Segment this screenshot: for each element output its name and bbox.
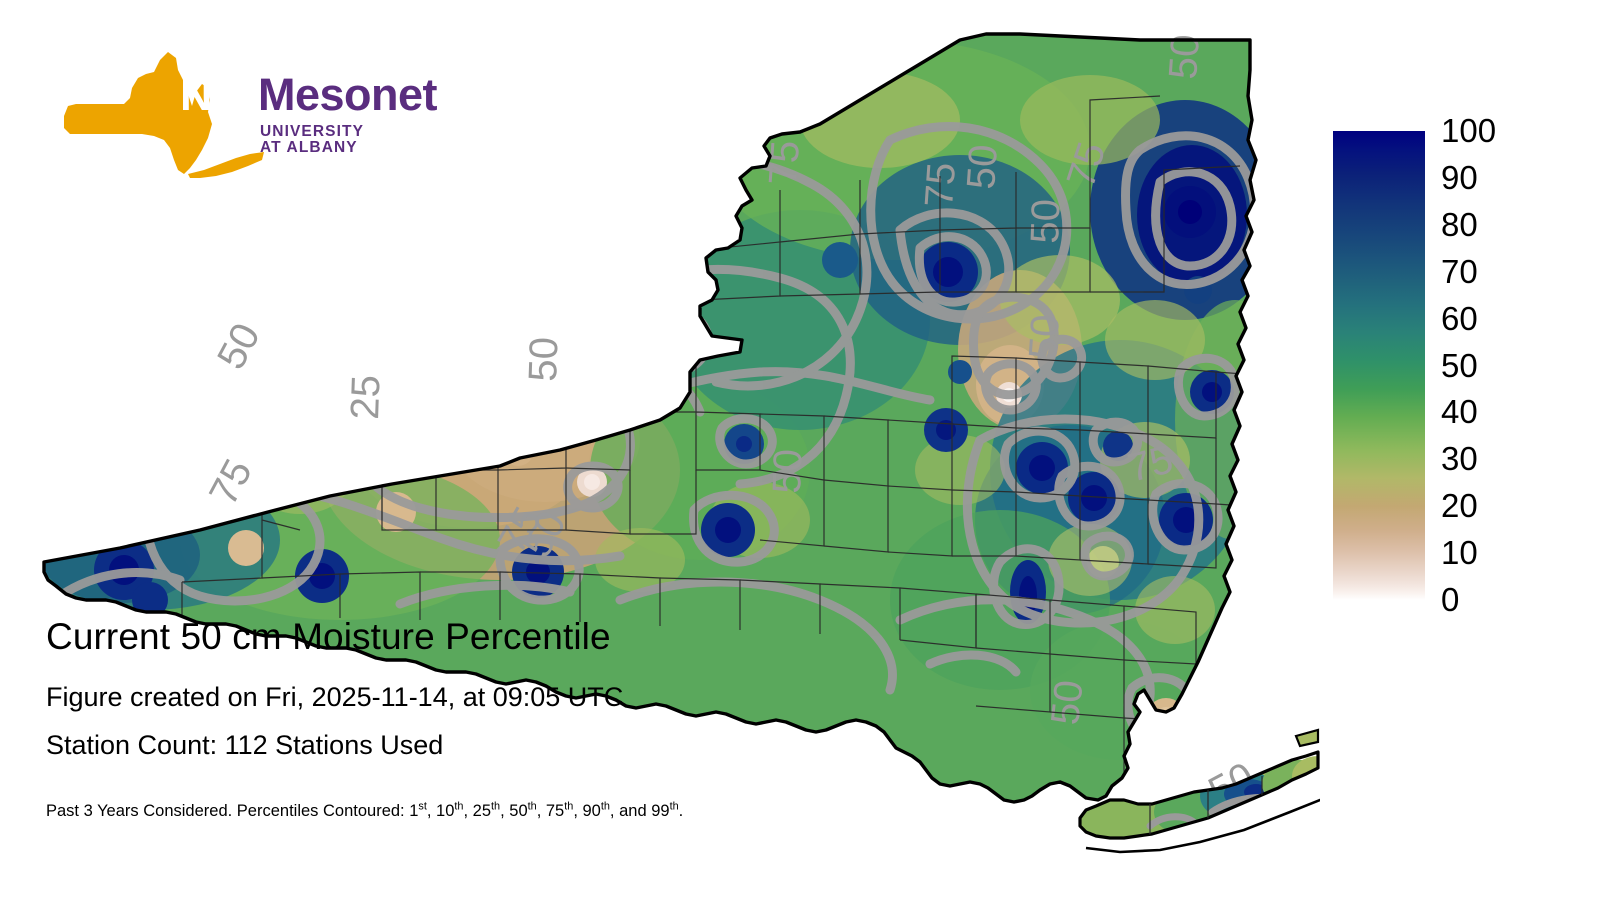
logo-divider-bar [251, 70, 255, 120]
station-count-label: Station Count: 112 Stations Used [46, 731, 1046, 759]
percentile-level-50: 50th [509, 802, 536, 820]
colorbar-tick-50: 50 [1441, 349, 1533, 382]
colorbar-tick-80: 80 [1441, 208, 1533, 241]
percentile-level-1: 1st [409, 802, 427, 820]
logo-university-subtitle: UNIVERSITY AT ALBANY [260, 124, 364, 155]
nys-mesonet-logo: NYS Mesonet UNIVERSITY AT ALBANY [58, 48, 408, 178]
contour-footnote: Past 3 Years Considered. Percentiles Con… [46, 802, 1046, 820]
colorbar-tick-70: 70 [1441, 255, 1533, 288]
creation-timestamp: Figure created on Fri, 2025-11-14, at 09… [46, 683, 1046, 711]
percentile-level-90: 90th [582, 802, 609, 820]
colorbar-tick-100: 100 [1441, 114, 1533, 147]
logo-mesonet-text: Mesonet [258, 72, 437, 117]
colorbar-tick-20: 20 [1441, 489, 1533, 522]
page-title: Current 50 cm Moisture Percentile [46, 618, 1046, 657]
colorbar: 1009080706050403020100 [1333, 131, 1533, 601]
svg-text:25: 25 [343, 374, 389, 420]
colorbar-tick-60: 60 [1441, 302, 1533, 335]
colorbar-gradient [1333, 131, 1425, 600]
svg-text:75: 75 [201, 452, 261, 512]
percentile-level-10: 10th [436, 802, 463, 820]
colorbar-tick-0: 0 [1441, 583, 1533, 616]
svg-text:50: 50 [959, 143, 1006, 190]
colorbar-tick-90: 90 [1441, 161, 1533, 194]
colorbar-tick-30: 30 [1441, 442, 1533, 475]
svg-text:50: 50 [209, 316, 269, 376]
percentile-level-99: 99th [651, 802, 678, 820]
svg-text:50: 50 [1021, 313, 1068, 360]
caption-block: Current 50 cm Moisture Percentile Figure… [46, 618, 1046, 820]
colorbar-tick-10: 10 [1441, 536, 1533, 569]
colorbar-tick-40: 40 [1441, 395, 1533, 428]
figure-root: 50 75 25 50 75 50 50 75 75 50 50 75 50 7… [0, 0, 1600, 900]
svg-text:50: 50 [1023, 198, 1069, 244]
percentile-level-25: 25th [473, 802, 500, 820]
percentile-level-75: 75th [546, 802, 573, 820]
svg-text:50: 50 [521, 336, 567, 382]
